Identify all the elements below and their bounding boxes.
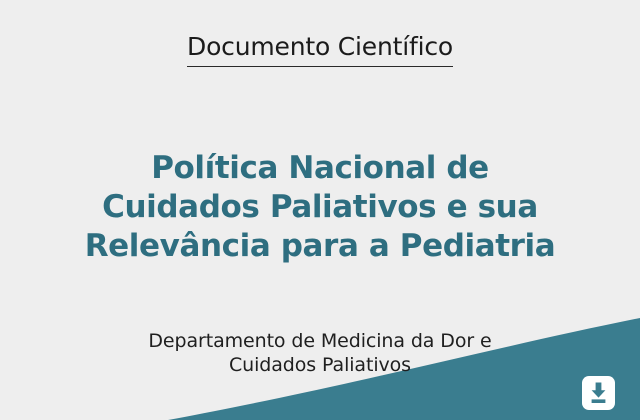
document-type-label: Documento Científico <box>0 30 640 67</box>
department-subtitle: Departamento de Medicina da Dor e Cuidad… <box>0 329 640 377</box>
document-type-text: Documento Científico <box>187 30 453 67</box>
department-subtitle-line-1: Departamento de Medicina da Dor e <box>0 329 640 353</box>
download-button[interactable] <box>582 376 615 410</box>
download-icon <box>588 382 609 404</box>
page-title: Política Nacional de Cuidados Paliativos… <box>0 149 640 266</box>
page-title-line-3: Relevância para a Pediatria <box>0 227 640 266</box>
page-title-line-2: Cuidados Paliativos e sua <box>0 188 640 227</box>
page-title-line-1: Política Nacional de <box>0 149 640 188</box>
department-subtitle-line-2: Cuidados Paliativos <box>0 353 640 377</box>
document-cover-card: Documento Científico Política Nacional d… <box>0 0 640 420</box>
